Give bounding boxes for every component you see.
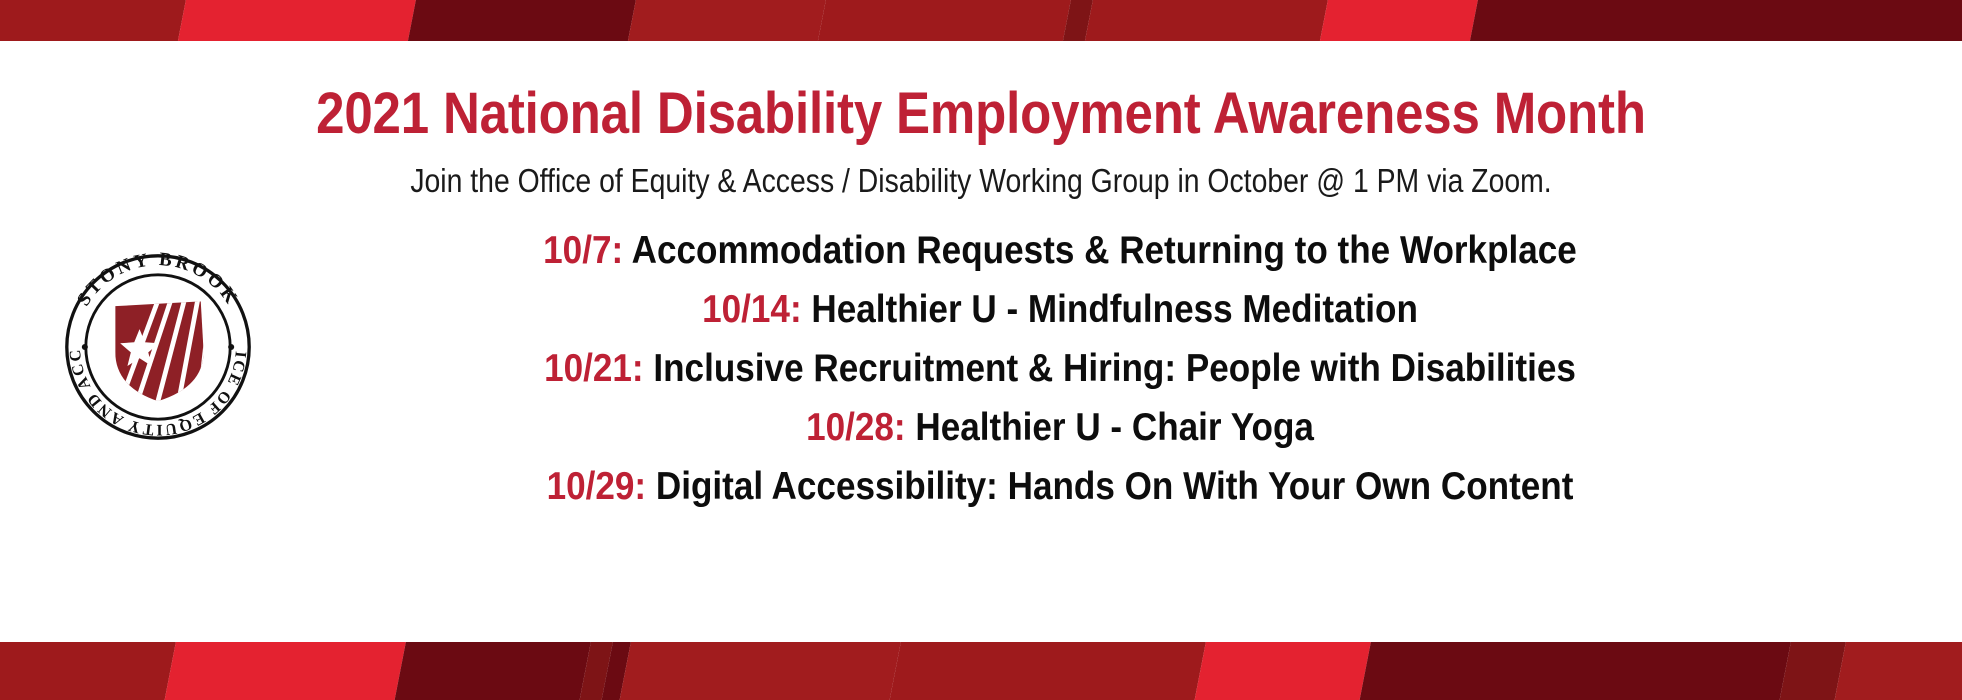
event-schedule-list: 10/7: Accommodation Requests & Returning… [300,221,1820,516]
banner-stripe [1068,0,1330,41]
banner-stripe [1453,0,1962,41]
banner-stripe [1303,0,1480,41]
event-date: 10/21: [544,347,644,390]
banner-stripe [0,642,179,700]
flyer-content: STONY BROOK OFFICE OF EQUITY AND ACCESS … [0,41,1962,642]
event-date: 10/7: [543,229,623,272]
list-item: 10/7: Accommodation Requests & Returning… [376,221,1744,280]
banner-stripe [0,0,189,41]
event-date: 10/29: [547,465,647,508]
stony-brook-seal-logo: STONY BROOK OFFICE OF EQUITY AND ACCESS [63,252,253,442]
banner-stripe [161,0,418,41]
banner-stripe [151,642,408,700]
flyer-title: 2021 National Disability Employment Awar… [118,83,1845,145]
event-title: Inclusive Recruitment & Hiring: People w… [653,347,1576,390]
banner-stripe [801,0,1073,41]
banner-stripe [611,0,828,41]
event-title: Digital Accessibility: Hands On With You… [656,465,1574,508]
list-item: 10/28: Healthier U - Chair Yoga [376,398,1744,457]
banner-stripe [606,642,903,700]
top-decorative-banner [0,0,1962,41]
bottom-decorative-banner [0,642,1962,700]
flyer-subtitle: Join the Office of Equity & Access / Dis… [137,162,1824,200]
event-title: Accommodation Requests & Returning to th… [632,229,1577,272]
list-item: 10/29: Digital Accessibility: Hands On W… [376,457,1744,516]
event-date: 10/28: [806,406,906,449]
banner-stripe [876,642,1208,700]
event-date: 10/14: [702,288,802,331]
event-title: Healthier U - Chair Yoga [915,406,1314,449]
banner-stripe [1346,642,1793,700]
seal-icon: STONY BROOK OFFICE OF EQUITY AND ACCESS [63,252,253,442]
banner-stripe [1181,642,1373,700]
banner-stripe [381,642,593,700]
list-item: 10/14: Healthier U - Mindfulness Meditat… [376,280,1744,339]
event-title: Healthier U - Mindfulness Meditation [811,288,1417,331]
banner-stripe [391,0,638,41]
list-item: 10/21: Inclusive Recruitment & Hiring: P… [376,339,1744,398]
